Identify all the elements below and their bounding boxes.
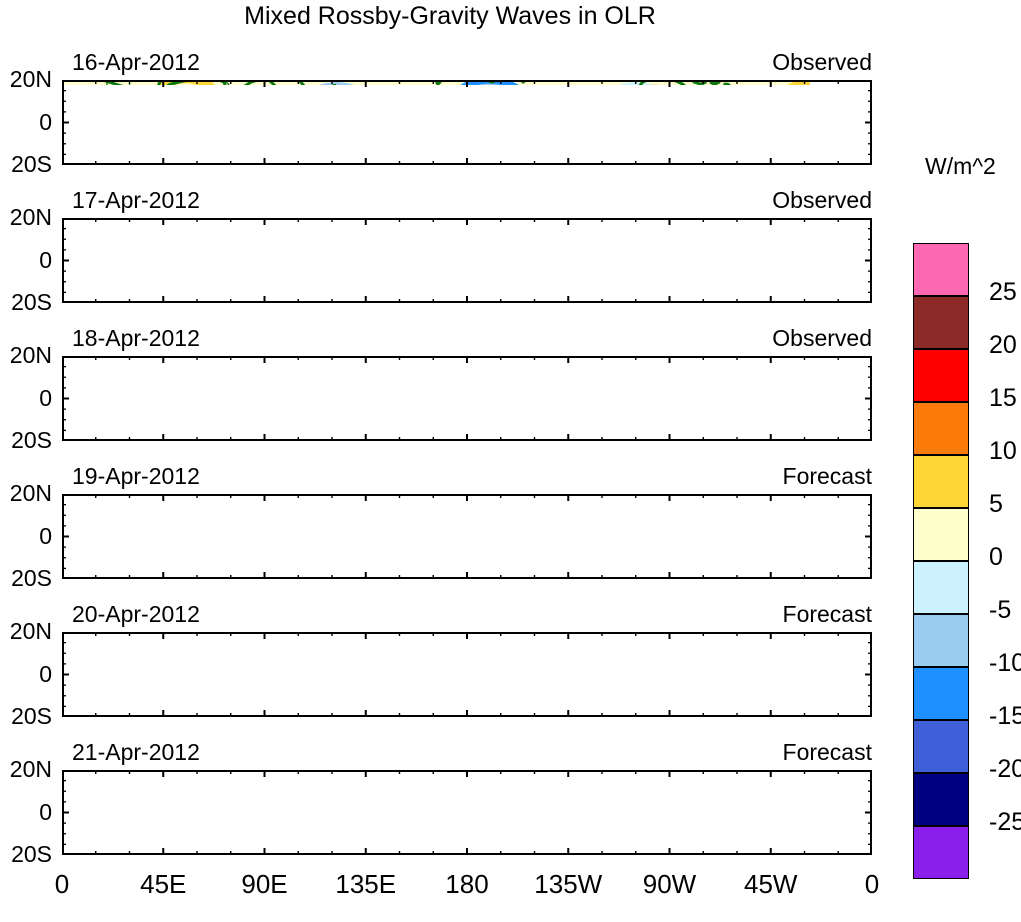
panel-date-label: 17-Apr-2012 (72, 187, 200, 214)
y-axis-label: 0 (0, 799, 52, 826)
y-axis-label: 0 (0, 523, 52, 550)
x-axis-label: 135E (321, 869, 411, 900)
colorbar-tick-label: 15 (989, 384, 1017, 413)
y-axis-label: 20S (0, 565, 52, 592)
colorbar-swatch[interactable] (913, 826, 969, 879)
panel-source-label: Forecast (632, 463, 872, 490)
x-axis-label: 45W (726, 869, 816, 900)
y-axis-label: 20N (0, 342, 52, 369)
colorbar-swatch[interactable] (913, 561, 969, 614)
page-title: Mixed Rossby-Gravity Waves in OLR (0, 2, 900, 31)
y-axis-label: 20S (0, 841, 52, 868)
y-axis-label: 0 (0, 661, 52, 688)
panel-source-label: Forecast (632, 739, 872, 766)
colorbar-swatch[interactable] (913, 243, 969, 296)
colorbar-swatch[interactable] (913, 349, 969, 402)
panel-date-label: 18-Apr-2012 (72, 325, 200, 352)
x-axis-label: 90W (625, 869, 715, 900)
y-axis-label: 20N (0, 480, 52, 507)
colorbar-tick-label: 0 (989, 543, 1003, 572)
x-axis-label: 180 (422, 869, 512, 900)
x-axis-label: 0 (17, 869, 107, 900)
colorbar-tick-label: 25 (989, 278, 1017, 307)
panel-source-label: Forecast (632, 601, 872, 628)
panel-frame (62, 80, 872, 165)
colorbar-unit-label: W/m^2 (925, 153, 996, 180)
panel-date-label: 21-Apr-2012 (72, 739, 200, 766)
panel-frame (62, 218, 872, 303)
colorbar-swatch[interactable] (913, 720, 969, 773)
y-axis-label: 20N (0, 204, 52, 231)
x-axis-label: 45E (118, 869, 208, 900)
y-axis-label: 20N (0, 756, 52, 783)
y-axis-label: 0 (0, 109, 52, 136)
colorbar-swatch[interactable] (913, 508, 969, 561)
colorbar-tick-label: 5 (989, 490, 1003, 519)
panel-frame (62, 770, 872, 855)
colorbar-tick-label: -10 (989, 649, 1021, 678)
colorbar-swatch[interactable] (913, 296, 969, 349)
y-axis-label: 20S (0, 151, 52, 178)
colorbar-tick-label: 10 (989, 437, 1017, 466)
colorbar-tick-label: -5 (989, 596, 1011, 625)
x-axis-label: 135W (523, 869, 613, 900)
x-axis-label: 90E (220, 869, 310, 900)
y-axis-label: 20S (0, 289, 52, 316)
colorbar-swatch[interactable] (913, 667, 969, 720)
panel-frame (62, 494, 872, 579)
y-axis-label: 0 (0, 385, 52, 412)
colorbar-swatch[interactable] (913, 614, 969, 667)
panel-frame (62, 356, 872, 441)
panel-date-label: 20-Apr-2012 (72, 601, 200, 628)
panel-date-label: 19-Apr-2012 (72, 463, 200, 490)
y-axis-label: 20S (0, 427, 52, 454)
panel-date-label: 16-Apr-2012 (72, 49, 200, 76)
panel-source-label: Observed (632, 49, 872, 76)
y-axis-label: 20N (0, 618, 52, 645)
y-axis-label: 20S (0, 703, 52, 730)
colorbar-tick-label: -20 (989, 755, 1021, 784)
y-axis-label: 20N (0, 66, 52, 93)
colorbar-swatch[interactable] (913, 402, 969, 455)
x-axis-label: 0 (827, 869, 917, 900)
colorbar-swatch[interactable] (913, 455, 969, 508)
colorbar-tick-label: -15 (989, 702, 1021, 731)
y-axis-label: 0 (0, 247, 52, 274)
colorbar-tick-label: 20 (989, 331, 1017, 360)
panel-source-label: Observed (632, 325, 872, 352)
colorbar-tick-label: -25 (989, 808, 1021, 837)
panel-frame (62, 632, 872, 717)
panel-source-label: Observed (632, 187, 872, 214)
colorbar-swatch[interactable] (913, 773, 969, 826)
